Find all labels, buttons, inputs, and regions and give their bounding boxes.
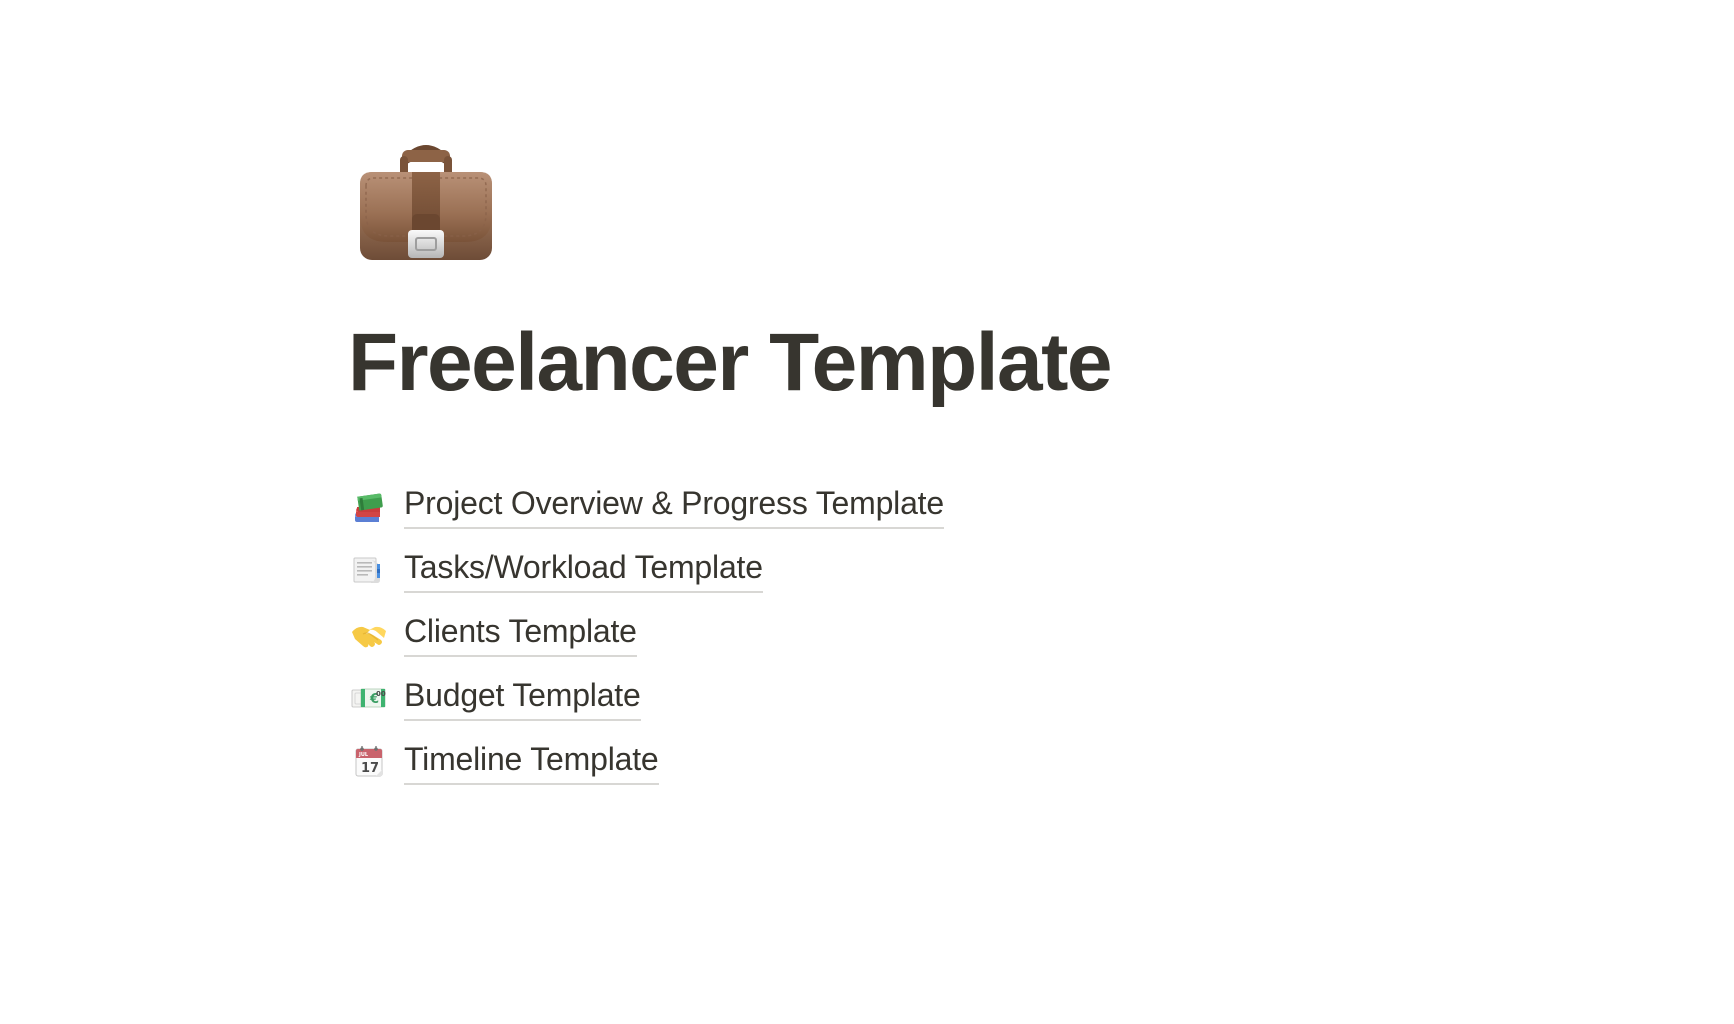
list-item-label: Timeline Template [404, 740, 659, 785]
list-item[interactable]: Clients Template [348, 602, 1448, 666]
list-item-label: Project Overview & Progress Template [404, 484, 944, 529]
page-title[interactable]: Freelancer Template [348, 315, 1111, 411]
list-item-label: Tasks/Workload Template [404, 548, 763, 593]
svg-text:00: 00 [376, 690, 386, 698]
euro-banknote-icon: € 00 [348, 677, 390, 719]
books-icon [348, 485, 390, 527]
list-item[interactable]: Tasks/Workload Template [348, 538, 1448, 602]
list-item-label: Clients Template [404, 612, 637, 657]
list-item[interactable]: Project Overview & Progress Template [348, 474, 1448, 538]
svg-text:JUL: JUL [358, 752, 369, 758]
template-link-list: Project Overview & Progress Template [348, 474, 1448, 794]
list-item-label: Budget Template [404, 676, 641, 721]
list-item[interactable]: € 00 Budget Template [348, 666, 1448, 730]
page-canvas: Freelancer Template [0, 0, 1734, 1024]
calendar-icon: JUL 17 [348, 741, 390, 783]
svg-text:17: 17 [361, 761, 379, 776]
handshake-icon [348, 613, 390, 655]
list-item[interactable]: JUL 17 Timeline Template [348, 730, 1448, 794]
briefcase-icon[interactable] [348, 120, 504, 276]
rolled-up-newspaper-icon [348, 549, 390, 591]
